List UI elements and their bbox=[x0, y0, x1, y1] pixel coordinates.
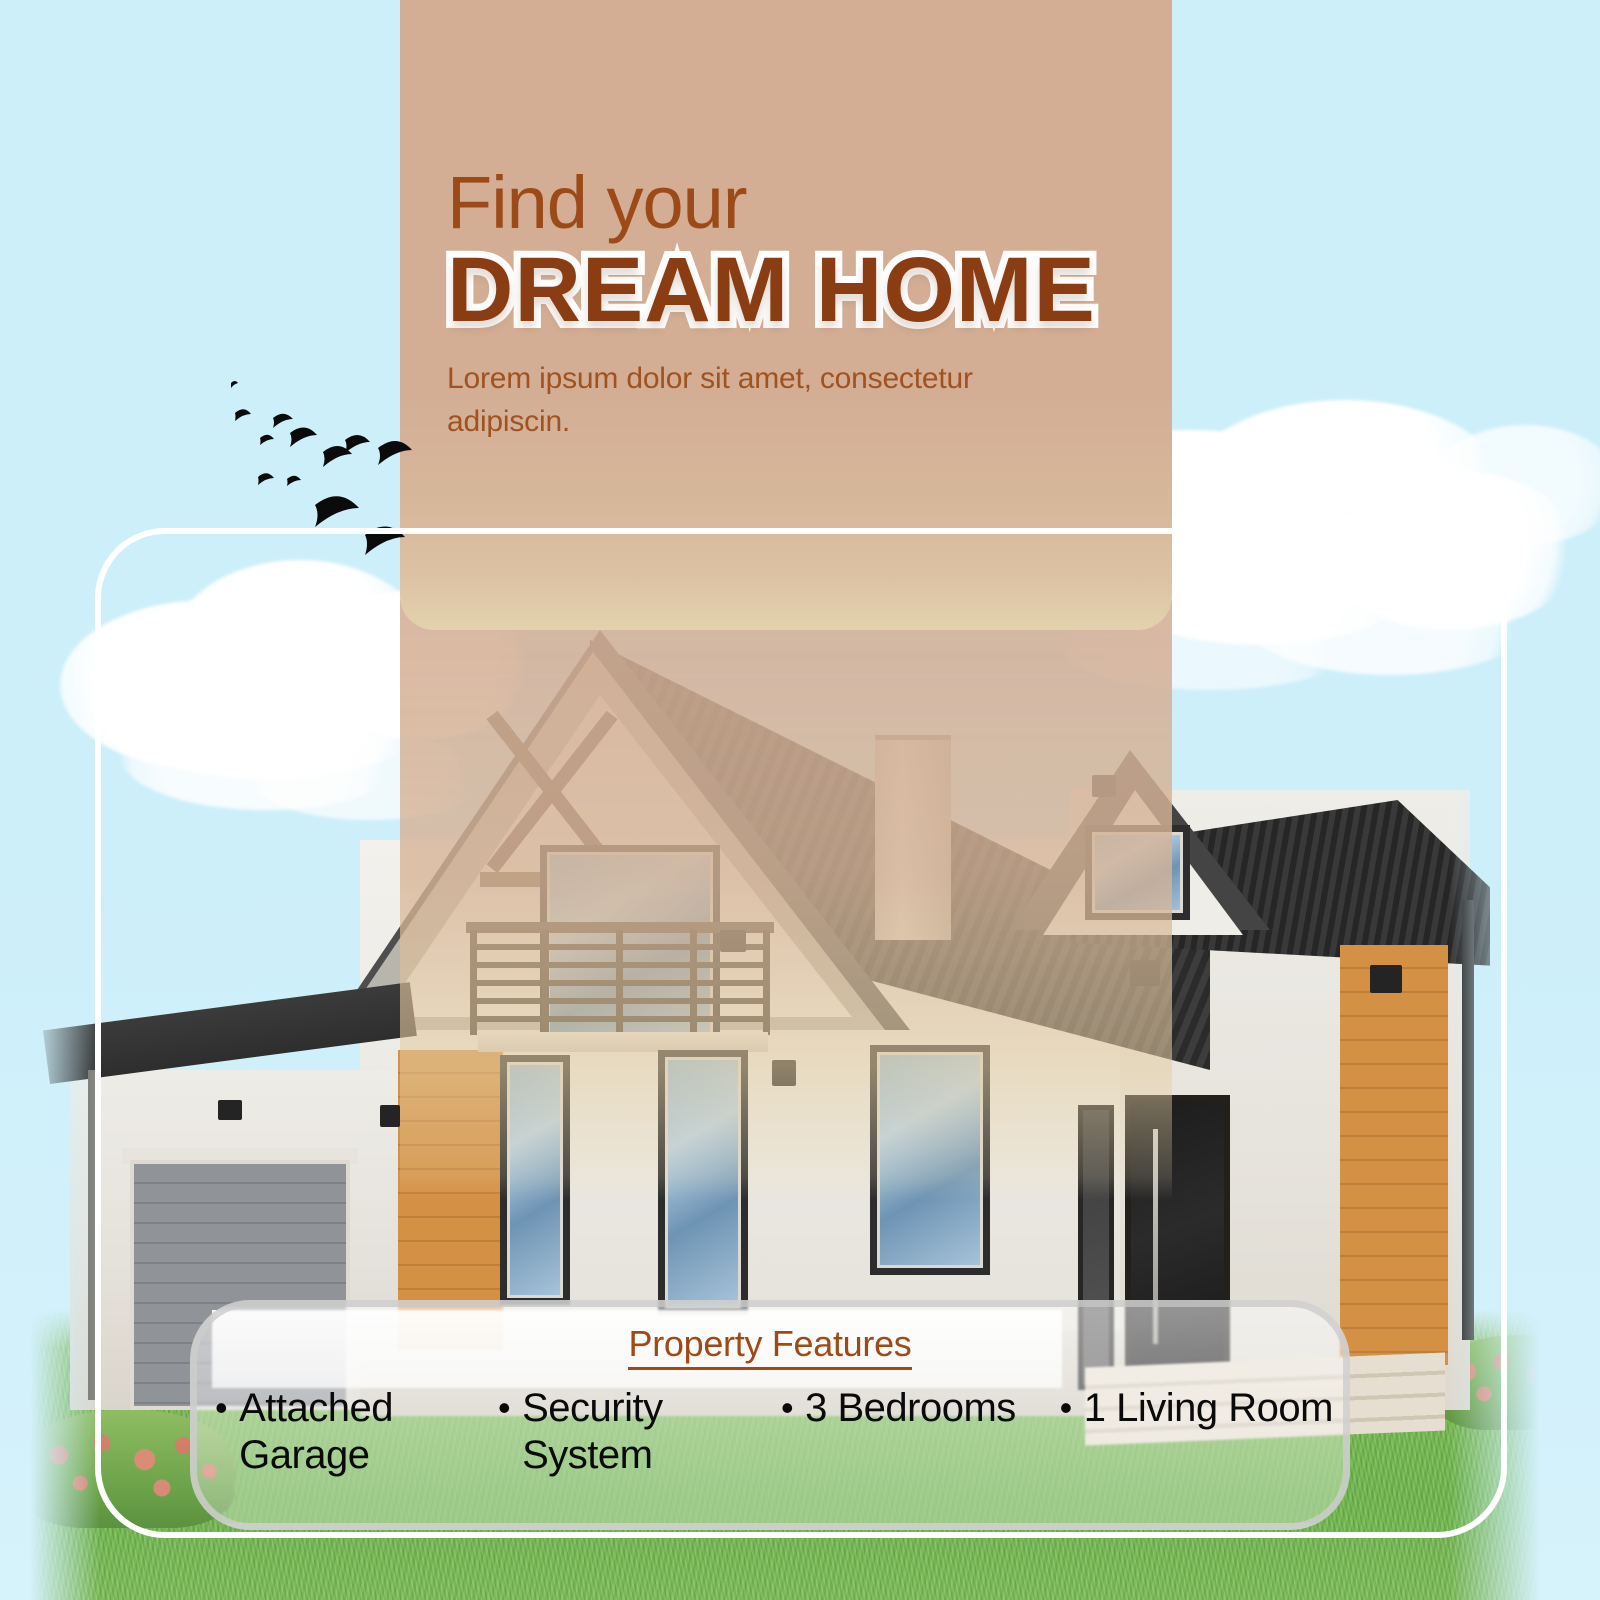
bird-flock-icon bbox=[195, 355, 445, 585]
bird-flock-svg bbox=[195, 355, 445, 585]
feature-label: Attached Garage bbox=[239, 1385, 454, 1479]
upper-window bbox=[1085, 825, 1190, 920]
list-item: • 1 Living Room bbox=[1060, 1385, 1333, 1432]
exterior-lamp-icon bbox=[380, 1105, 400, 1127]
bullet-icon: • bbox=[215, 1385, 227, 1430]
wood-siding-panel bbox=[1340, 945, 1448, 1365]
property-features-panel: Property Features • Attached Garage • Se… bbox=[190, 1300, 1350, 1530]
exterior-lamp-icon bbox=[1130, 960, 1160, 986]
bullet-icon: • bbox=[781, 1385, 793, 1430]
exterior-lamp-icon bbox=[1370, 965, 1402, 993]
list-item: • Security System bbox=[498, 1385, 737, 1479]
exterior-lamp-icon bbox=[772, 1060, 796, 1086]
feature-label: 3 Bedrooms bbox=[805, 1385, 1016, 1432]
headline-block: Find your DREAM HOME Lorem ipsum dolor s… bbox=[447, 168, 1147, 443]
page-title: DREAM HOME bbox=[447, 244, 1147, 336]
features-title-text: Property Features bbox=[628, 1323, 911, 1370]
bullet-icon: • bbox=[498, 1385, 510, 1430]
list-item: • Attached Garage bbox=[215, 1385, 454, 1479]
living-room-window bbox=[870, 1045, 990, 1275]
bullet-icon: • bbox=[1060, 1385, 1072, 1430]
exterior-lamp-icon bbox=[218, 1100, 242, 1120]
exterior-lamp-icon bbox=[720, 930, 746, 952]
tall-window bbox=[658, 1050, 748, 1315]
features-title: Property Features bbox=[197, 1323, 1343, 1365]
feature-label: 1 Living Room bbox=[1084, 1385, 1333, 1432]
downpipe bbox=[88, 1070, 98, 1400]
feature-label: Security System bbox=[522, 1385, 737, 1479]
headline-kicker: Find your bbox=[447, 168, 1147, 238]
balcony-slab bbox=[478, 1032, 768, 1052]
list-item: • 3 Bedrooms bbox=[781, 1385, 1016, 1432]
side-window bbox=[500, 1055, 570, 1305]
exterior-lamp-icon bbox=[1092, 775, 1116, 797]
headline-subcopy: Lorem ipsum dolor sit amet, consectetur … bbox=[447, 358, 1027, 443]
features-list: • Attached Garage • Security System • 3 … bbox=[215, 1385, 1333, 1479]
real-estate-poster: Find your DREAM HOME Lorem ipsum dolor s… bbox=[0, 0, 1600, 1600]
downpipe bbox=[1462, 900, 1474, 1340]
